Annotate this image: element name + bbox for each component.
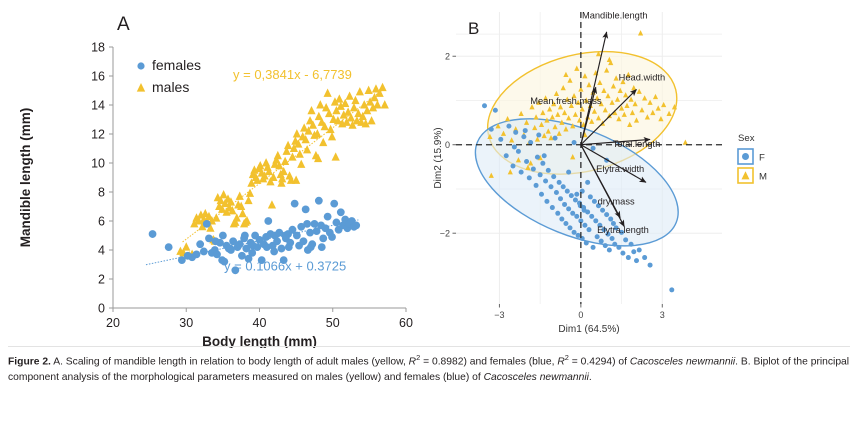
data-point-circle [554,190,559,195]
data-point-circle [557,180,562,185]
data-point-circle [620,251,625,256]
data-point-circle [513,130,518,135]
data-point-circle [612,242,617,247]
panel-b-label: B [468,19,479,38]
x-axis-tick-label: 60 [399,316,413,330]
data-point-triangle [378,83,386,91]
data-point-circle [637,248,642,253]
data-point-triangle [281,157,289,165]
data-point-triangle [182,242,190,250]
data-point-triangle [239,209,247,217]
x-axis-tick-label: 20 [106,316,120,330]
data-point-circle [634,258,639,263]
panel-b-biplot: Mandible.lengthHead.widthMean.fresh.mass… [430,0,858,348]
data-point-circle [489,127,494,132]
data-point-circle [263,243,271,251]
vector-label-Mean.fresh.mass: Mean.fresh.mass [530,96,602,106]
data-point-circle [551,174,556,179]
caption-figure-label: Figure 2. [8,356,51,367]
data-point-triangle [268,200,276,208]
data-point-circle [561,184,566,189]
legend-label-F: F [759,153,765,164]
panel-a-svg: A0246810121416182030405060Body length (m… [0,0,430,348]
data-point-circle [629,242,634,247]
vector-label-dry.mass: dry.mass [598,196,635,206]
data-point-circle [669,287,674,292]
data-point-circle [241,232,249,240]
data-point-circle [538,172,543,177]
data-point-circle [149,230,157,238]
caption-divider [8,346,850,347]
caption-r2-symbol-females: R [557,356,564,367]
panel-b-legend: SexFM [738,133,767,183]
y-axis-tick-label: 2 [445,52,450,62]
x-axis-tick-label: 40 [253,316,267,330]
data-point-circle [587,227,592,232]
data-point-triangle [351,96,359,104]
data-point-circle [591,245,596,250]
data-point-triangle [381,100,389,108]
panel-a-label: A [117,14,130,35]
data-point-circle [307,243,315,251]
data-point-circle [506,124,511,129]
data-point-triangle [324,89,332,97]
data-point-circle [264,217,272,225]
data-point-circle [589,214,594,219]
data-point-circle [281,232,289,240]
data-point-circle [585,180,590,185]
y-axis-tick-label: −2 [440,229,450,239]
data-point-circle [328,233,336,241]
data-point-circle [610,236,615,241]
legend-label-females: females [152,57,201,73]
figure-container: A0246810121416182030405060Body length (m… [0,0,858,422]
data-point-circle [546,168,551,173]
figure-caption: Figure 2. A. Scaling of mandible length … [8,352,850,386]
data-point-circle [535,155,540,160]
panel-a-scatter: A0246810121416182030405060Body length (m… [0,0,430,348]
panel-a-legend: femalesmales [137,57,201,95]
data-point-circle [285,243,293,251]
data-point-circle [588,194,593,199]
data-point-triangle [297,160,305,168]
data-point-circle [574,192,579,197]
caption-r2-symbol-males: R [409,356,416,367]
data-point-circle [165,243,173,251]
data-point-triangle [373,100,381,108]
data-point-circle [568,225,573,230]
data-point-circle [648,263,653,268]
data-point-circle [642,255,647,260]
data-point-circle [482,103,487,108]
data-point-circle [516,149,521,154]
data-point-circle [306,229,314,237]
legend-label-males: males [152,79,189,95]
data-point-triangle [262,158,270,166]
data-point-circle [531,167,536,172]
data-point-circle [200,248,208,256]
y-axis-tick-label: 4 [98,244,105,258]
vector-label-Mandible.length: Mandible.length [582,11,648,21]
data-point-triangle [307,106,315,114]
caption-text-end: . [589,372,592,383]
y-axis-title: Mandible length (mm) [18,108,33,248]
data-point-circle [273,237,281,245]
vector-label-Total.length: Total.length [613,139,661,149]
data-point-triangle [319,138,327,146]
data-point-triangle [365,86,373,94]
caption-text-1: A. Scaling of mandible length in relatio… [51,356,409,367]
data-point-triangle [233,213,241,221]
x-axis-tick-label: 30 [179,316,193,330]
x-axis-tick-label: −3 [494,310,504,320]
data-point-circle [270,248,278,256]
data-point-circle [631,249,636,254]
data-point-circle [563,221,568,226]
data-point-circle [330,200,338,208]
x-axis-tick-label: 3 [660,310,665,320]
data-point-circle [540,161,545,166]
data-point-circle [592,199,597,204]
legend-title: Sex [738,133,755,144]
data-point-circle [293,232,301,240]
data-point-circle [315,197,323,205]
data-point-circle [226,245,234,253]
data-point-circle [527,175,532,180]
vector-label-Elytra.width: Elytra.width [596,164,644,174]
data-point-circle [319,235,327,243]
caption-species-1: Cacosceles newmannii [630,356,735,367]
data-point-circle [566,206,571,211]
data-point-circle [303,220,311,228]
data-point-triangle [293,129,301,137]
data-point-circle [493,108,498,113]
caption-species-2: Cacosceles newmannii [484,372,589,383]
y-axis-tick-label: 18 [91,41,105,55]
data-point-triangle [345,91,353,99]
vector-label-Head.width: Head.width [619,73,666,83]
data-point-triangle [341,99,349,107]
data-point-circle [553,136,558,141]
equation-annotation-males: y = 0,3841x - 6,7739 [233,67,352,82]
data-point-circle [569,193,574,198]
y-axis-tick-label: 8 [98,186,105,200]
data-point-circle [219,232,227,240]
data-point-triangle [367,116,375,124]
data-point-circle [576,233,581,238]
data-point-circle [608,217,613,222]
data-point-circle [582,223,587,228]
vector-label-Elytra.length: Elytra.length [597,225,649,235]
data-point-circle [504,153,509,158]
data-point-triangle [350,103,358,111]
legend-label-M: M [759,172,767,183]
data-point-triangle [284,141,292,149]
data-point-circle [524,159,529,164]
data-point-circle [565,189,570,194]
data-point-circle [566,170,571,175]
data-point-circle [324,213,332,221]
y-axis-tick-label: 12 [91,128,105,142]
data-point-circle [550,205,555,210]
data-point-triangle [335,94,343,102]
data-point-circle [616,245,621,250]
data-point-circle [536,132,541,137]
data-point-circle [604,212,609,217]
data-point-circle [584,240,589,245]
data-point-circle [196,240,204,248]
y-axis-tick-label: 16 [91,70,105,84]
data-point-triangle [328,132,336,140]
data-point-circle [600,208,605,213]
data-point-circle [603,243,608,248]
data-point-triangle [316,100,324,108]
data-point-circle [582,208,587,213]
caption-r2-males: = 0.8982) and females (blue, [420,356,557,367]
data-point-triangle [274,151,282,159]
y-axis-title: Dim2 (15.9%) [433,127,444,188]
data-point-circle [278,245,286,253]
data-point-circle [591,146,596,151]
data-point-circle [511,163,516,168]
data-point-triangle [332,152,340,160]
data-point-circle [543,179,548,184]
data-point-circle [570,211,575,216]
data-point-circle [318,243,326,251]
legend-marker-males [137,83,145,92]
data-point-circle [607,248,612,253]
data-point-circle [203,220,211,228]
data-point-circle [626,255,631,260]
data-point-circle [193,250,201,258]
data-point-circle [542,153,547,158]
data-point-circle [311,220,319,228]
data-point-circle [549,184,554,189]
data-point-circle [623,237,628,242]
data-point-circle [519,170,524,175]
data-point-circle [212,237,220,245]
data-point-circle [544,199,549,204]
data-point-triangle [244,196,252,204]
equation-annotation-females: y = 0.1066x + 0.3725 [224,258,346,273]
data-point-circle [558,196,563,201]
y-axis-tick-label: 0 [445,140,450,150]
data-point-circle [291,200,299,208]
data-point-circle [248,249,256,257]
data-point-circle [572,230,577,235]
data-point-circle [352,221,360,229]
data-point-triangle [356,87,364,95]
data-point-circle [593,218,598,223]
data-point-circle [555,211,560,216]
x-axis-title: Dim1 (64.5%) [558,324,619,335]
data-point-circle [523,128,528,133]
x-axis-tick-label: 0 [578,310,583,320]
data-point-circle [539,192,544,197]
data-point-circle [574,214,579,219]
data-point-circle [302,206,310,214]
data-point-circle [573,198,578,203]
legend-marker-F [742,153,749,160]
x-axis-tick-label: 50 [326,316,340,330]
y-axis-tick-label: 10 [91,157,105,171]
data-point-circle [562,202,567,207]
data-point-triangle [303,145,311,153]
data-point-circle [559,217,564,222]
data-point-circle [599,239,604,244]
data-point-triangle [285,171,293,179]
y-axis-tick-label: 0 [98,302,105,316]
y-axis-tick-label: 14 [91,99,105,113]
caption-r2-females: = 0.4294) of [569,356,630,367]
data-point-circle [572,140,577,145]
data-point-circle [498,137,503,142]
panel-b-svg: Mandible.lengthHead.widthMean.fresh.mass… [430,0,858,348]
legend-marker-females [137,62,144,69]
y-axis-tick-label: 6 [98,215,105,229]
data-point-triangle [220,190,228,198]
data-point-triangle [292,176,300,184]
y-axis-tick-label: 2 [98,273,105,287]
data-point-circle [534,183,539,188]
data-point-circle [337,208,345,216]
data-point-circle [521,134,526,139]
data-point-circle [300,237,308,245]
